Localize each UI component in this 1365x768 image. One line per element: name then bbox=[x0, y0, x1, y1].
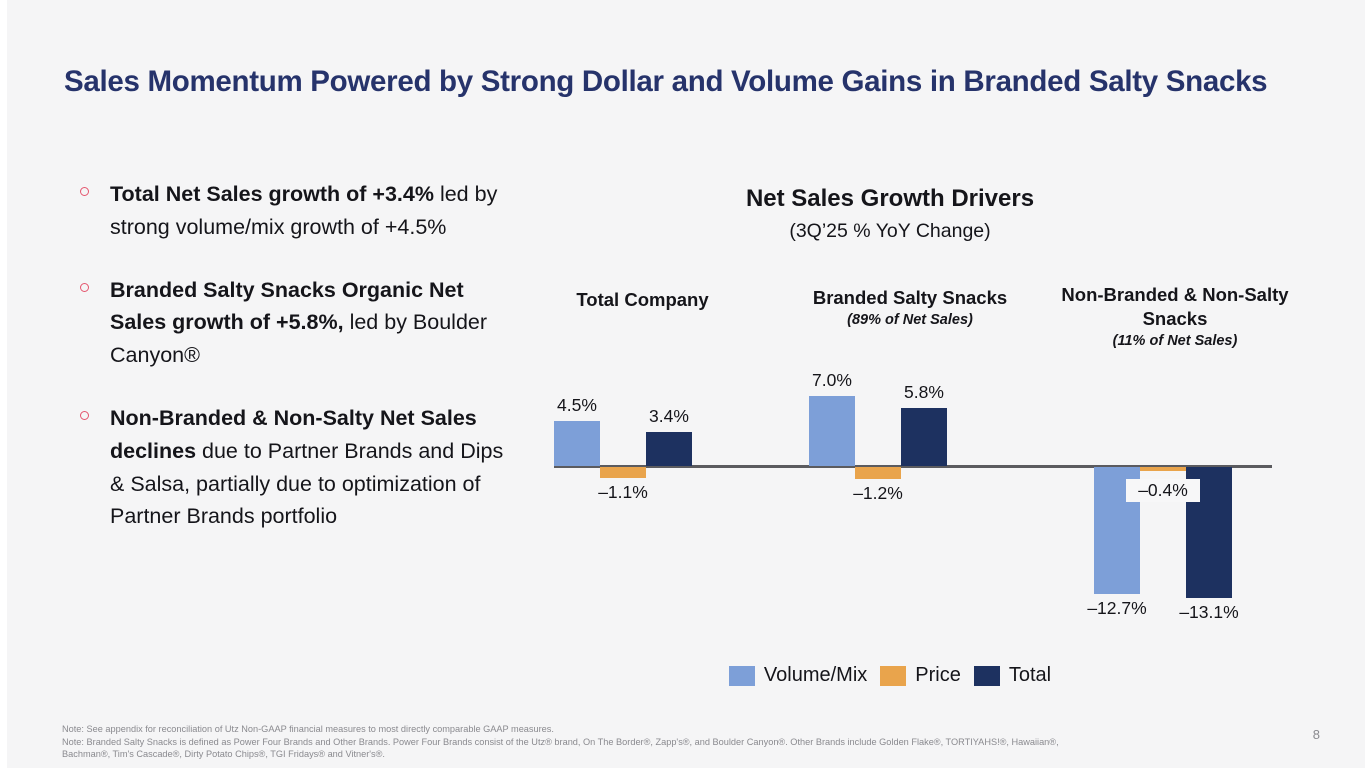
group-header-total-company: Total Company bbox=[545, 288, 740, 312]
group-header-branded-salty-snacks: Branded Salty Snacks (89% of Net Sales) bbox=[795, 286, 1025, 330]
legend-swatch-icon bbox=[880, 666, 906, 686]
list-item: Branded Salty Snacks Organic Net Sales g… bbox=[78, 274, 508, 372]
footnotes: Note: See appendix for reconciliation of… bbox=[62, 723, 1262, 761]
bar-price-0 bbox=[600, 467, 646, 478]
bar-total-0 bbox=[646, 432, 692, 466]
page-title: Sales Momentum Powered by Strong Dollar … bbox=[64, 64, 1304, 99]
slide-root: Sales Momentum Powered by Strong Dollar … bbox=[0, 0, 1365, 768]
legend-swatch-icon bbox=[974, 666, 1000, 686]
bar-value-label: –13.1% bbox=[1171, 602, 1247, 623]
group-name: Branded Salty Snacks bbox=[795, 286, 1025, 310]
bar-volume-mix-1 bbox=[809, 396, 855, 466]
bar-price-1 bbox=[855, 467, 901, 479]
bar-value-label: 7.0% bbox=[794, 370, 870, 391]
legend-label: Price bbox=[915, 664, 961, 687]
bullet-circle-icon bbox=[80, 411, 89, 420]
list-item: Non-Branded & Non-Salty Net Sales declin… bbox=[78, 402, 508, 533]
bar-value-label: 4.5% bbox=[539, 395, 615, 416]
page-number: 8 bbox=[1313, 727, 1320, 742]
legend-item-price[interactable]: Price bbox=[880, 664, 961, 687]
footnote-line: Note: Branded Salty Snacks is defined as… bbox=[62, 736, 1262, 749]
left-edge-band bbox=[0, 0, 7, 768]
group-header-non-branded-non-salty-snacks: Non-Branded & Non-Salty Snacks (11% of N… bbox=[1050, 283, 1300, 351]
legend-swatch-icon bbox=[729, 666, 755, 686]
bullet-bold-text: Total Net Sales growth of +3.4% bbox=[110, 182, 434, 206]
bullet-circle-icon bbox=[80, 187, 89, 196]
group-name: Total Company bbox=[545, 288, 740, 312]
chart-legend: Volume/MixPriceTotal bbox=[520, 664, 1260, 687]
bar-value-label: 5.8% bbox=[886, 382, 962, 403]
chart-subtitle: (3Q’25 % YoY Change) bbox=[520, 220, 1260, 243]
footnote-line: Bachman®, Tim's Cascade®, Dirty Potato C… bbox=[62, 748, 1262, 761]
chart-panel: Net Sales Growth Drivers (3Q’25 % YoY Ch… bbox=[520, 178, 1320, 708]
legend-item-volume-mix[interactable]: Volume/Mix bbox=[729, 664, 867, 687]
legend-item-total[interactable]: Total bbox=[974, 664, 1051, 687]
group-subtitle: (89% of Net Sales) bbox=[795, 310, 1025, 330]
legend-label: Total bbox=[1009, 664, 1051, 687]
footnote-line: Note: See appendix for reconciliation of… bbox=[62, 723, 1262, 736]
bar-value-label: –12.7% bbox=[1079, 598, 1155, 619]
list-item: Total Net Sales growth of +3.4% led by s… bbox=[78, 178, 508, 244]
group-name: Non-Branded & Non-Salty Snacks bbox=[1050, 283, 1300, 331]
bar-value-label: –1.1% bbox=[585, 482, 661, 503]
bullet-circle-icon bbox=[80, 283, 89, 292]
bullet-list: Total Net Sales growth of +3.4% led by s… bbox=[78, 178, 508, 563]
chart-title: Net Sales Growth Drivers bbox=[520, 185, 1260, 213]
chart-plot-area: 4.5%–1.1%3.4%7.0%–1.2%5.8%–12.7%–0.4%–13… bbox=[520, 348, 1320, 638]
bar-volume-mix-0 bbox=[554, 421, 600, 466]
legend-label: Volume/Mix bbox=[764, 664, 867, 687]
bar-value-label: –0.4% bbox=[1126, 479, 1200, 502]
bar-price-2 bbox=[1140, 467, 1186, 471]
bar-value-label: 3.4% bbox=[631, 406, 707, 427]
bar-total-1 bbox=[901, 408, 947, 466]
bar-value-label: –1.2% bbox=[840, 483, 916, 504]
